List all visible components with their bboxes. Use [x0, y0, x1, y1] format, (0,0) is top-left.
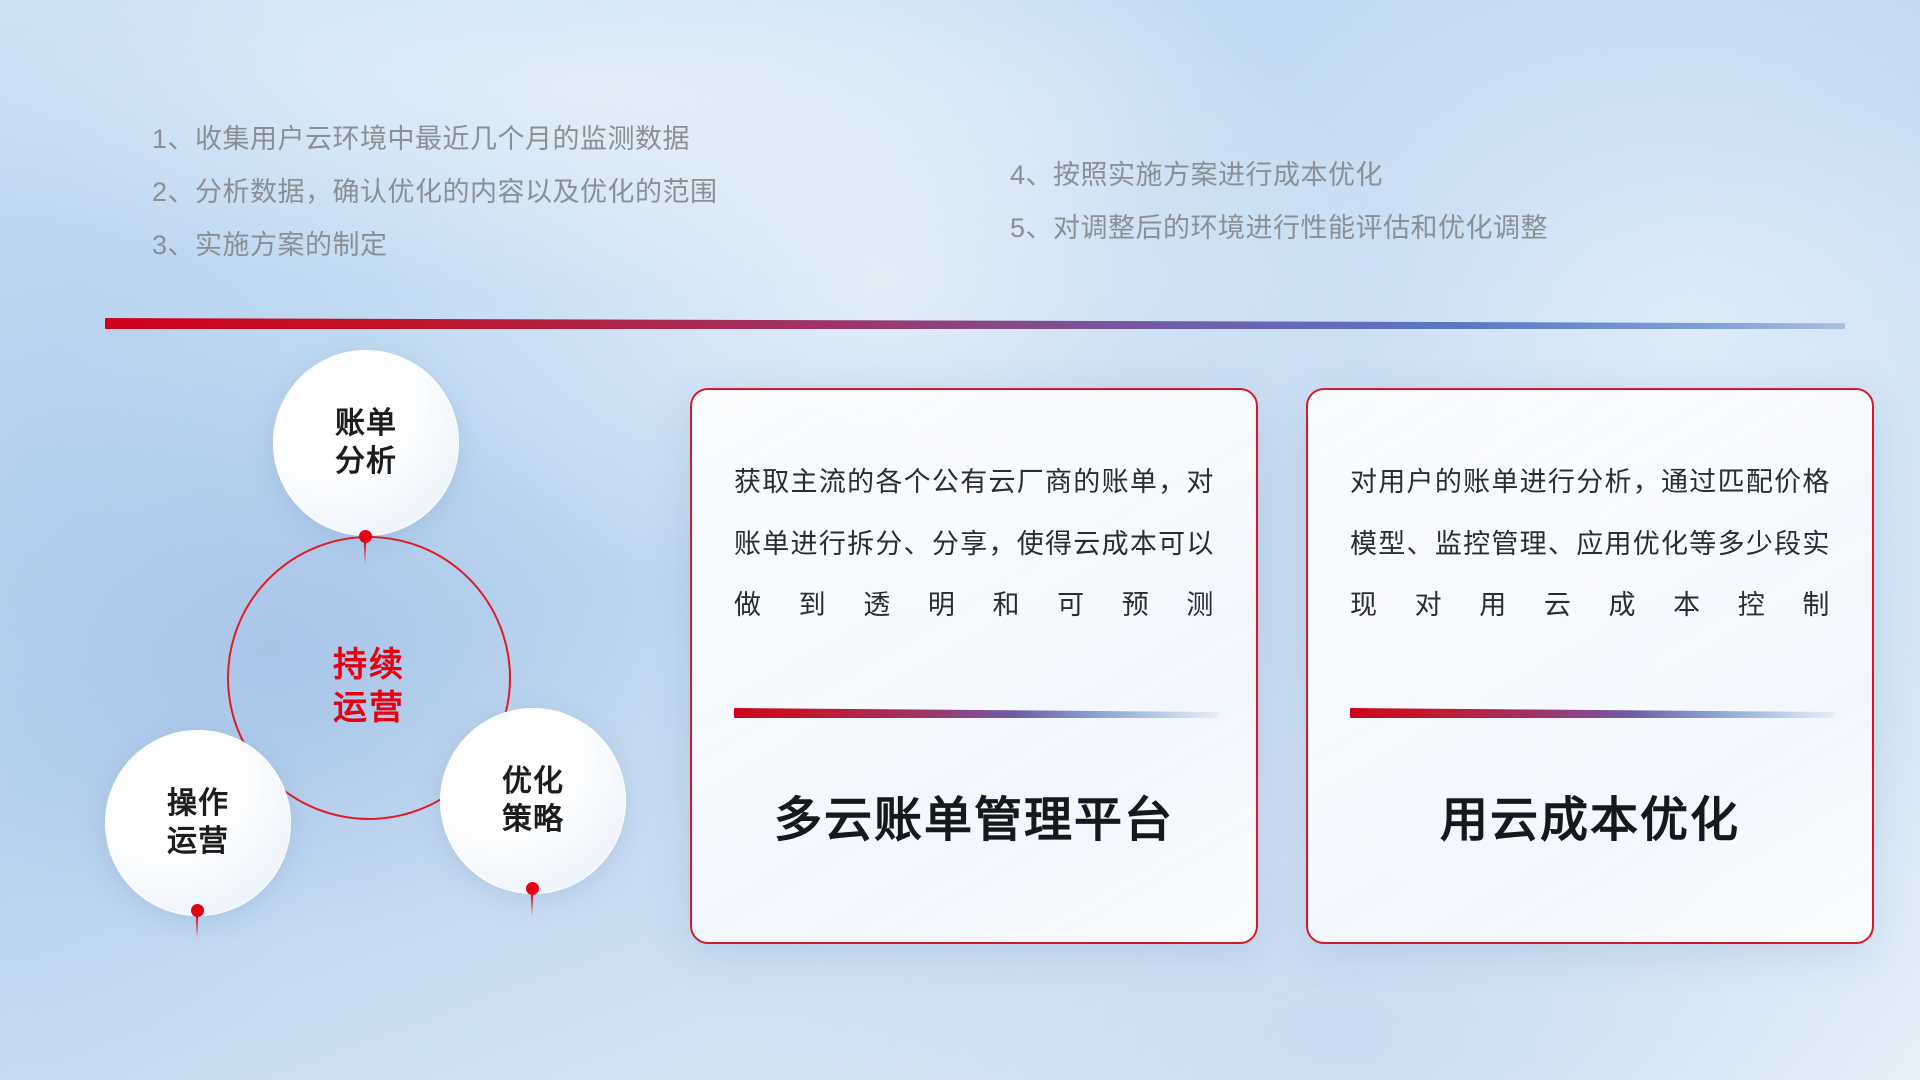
- connector-dot-left: [191, 904, 204, 917]
- divider-wedge: [105, 318, 1845, 329]
- feature-card-multicloud-billing[interactable]: 获取主流的各个公有云厂商的账单，对账单进行拆分、分享，使得云成本可以做到透明和可…: [690, 388, 1258, 944]
- card-title: 用云成本优化: [1350, 780, 1830, 850]
- card-body-text: 对用户的账单进行分析，通过匹配价格模型、监控管理、应用优化等多少段实现对用云成本…: [1350, 452, 1830, 698]
- connector-dot-right: [526, 882, 539, 895]
- feature-card-cost-optimization[interactable]: 对用户的账单进行分析，通过匹配价格模型、监控管理、应用优化等多少段实现对用云成本…: [1306, 388, 1874, 944]
- node-label-line1: 优化: [502, 763, 564, 801]
- step-item: 4、按照实施方案进行成本优化: [1010, 162, 1548, 189]
- steps-list-left: 1、收集用户云环境中最近几个月的监测数据 2、分析数据，确认优化的内容以及优化的…: [152, 126, 718, 285]
- connector-tail-left: [196, 916, 198, 938]
- connector-dot-top: [359, 530, 372, 543]
- center-label: 持续 运营: [227, 536, 511, 820]
- section-divider: [105, 318, 1845, 329]
- connector-tail-top: [364, 542, 366, 564]
- node-label-line1: 账单: [335, 405, 397, 443]
- card-divider: [734, 708, 1218, 718]
- step-item: 3、实施方案的制定: [152, 232, 718, 259]
- connector-tail-right: [531, 894, 533, 916]
- node-label-line2: 分析: [335, 443, 397, 481]
- cycle-diagram: 持续 运营 账单 分析 操作 运营 优化 策略: [95, 350, 655, 940]
- step-item: 1、收集用户云环境中最近几个月的监测数据: [152, 126, 718, 153]
- card-divider: [1350, 708, 1834, 718]
- center-label-line1: 持续: [333, 644, 405, 687]
- step-item: 2、分析数据，确认优化的内容以及优化的范围: [152, 179, 718, 206]
- steps-list-right: 4、按照实施方案进行成本优化 5、对调整后的环境进行性能评估和优化调整: [1010, 162, 1548, 268]
- node-circle-billing-analysis[interactable]: 账单 分析: [273, 350, 459, 536]
- node-label-line1: 操作: [167, 785, 229, 823]
- step-item: 5、对调整后的环境进行性能评估和优化调整: [1010, 215, 1548, 242]
- slide-canvas: 1、收集用户云环境中最近几个月的监测数据 2、分析数据，确认优化的内容以及优化的…: [0, 0, 1920, 1080]
- node-label-line2: 策略: [502, 801, 564, 839]
- card-title: 多云账单管理平台: [734, 780, 1214, 850]
- node-label-line2: 运营: [167, 823, 229, 861]
- center-label-line2: 运营: [333, 687, 405, 730]
- card-body-text: 获取主流的各个公有云厂商的账单，对账单进行拆分、分享，使得云成本可以做到透明和可…: [734, 452, 1214, 698]
